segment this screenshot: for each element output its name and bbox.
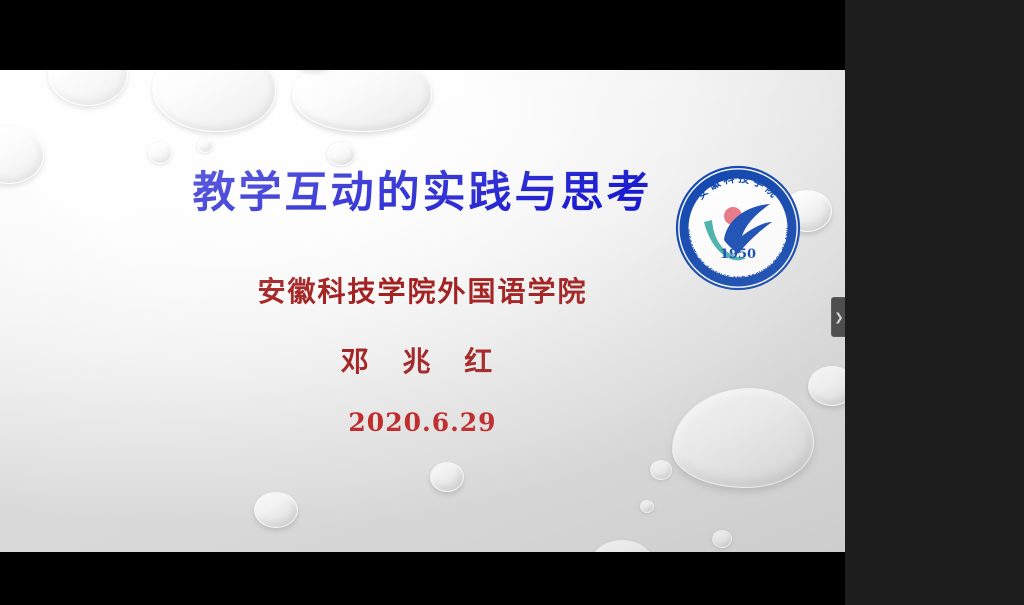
- bubble-decoration: [254, 492, 298, 528]
- bubble-decoration: [197, 138, 213, 153]
- slide-date: 2020.6.29: [0, 408, 845, 437]
- shared-screen-stage: 教学互动的实践与思考 安徽科技学院外国语学院 邓 兆 红 2020.6.29: [0, 0, 845, 605]
- participant-rail: 正在讲话: 邓兆红;: [845, 0, 1024, 605]
- presentation-slide: 教学互动的实践与思考 安徽科技学院外国语学院 邓 兆 红 2020.6.29: [0, 70, 845, 552]
- bubble-decoration: [430, 462, 464, 492]
- slide-author: 邓 兆 红: [0, 340, 845, 380]
- meeting-screen-share-window: 教学互动的实践与思考 安徽科技学院外国语学院 邓 兆 红 2020.6.29: [0, 0, 1024, 605]
- chevron-right-icon: ❯: [834, 311, 843, 324]
- bubble-decoration: [292, 70, 432, 132]
- bubble-decoration: [640, 500, 654, 513]
- bubble-decoration: [712, 530, 732, 548]
- bubble-decoration: [48, 70, 128, 106]
- bubble-decoration: [152, 70, 276, 132]
- bubble-decoration: [590, 540, 654, 552]
- bubble-decoration: [672, 388, 814, 488]
- university-logo-icon: 1950 安徽科技学院 UNIVERSITY OF SCIENCE AND TE…: [672, 162, 804, 294]
- panel-collapse-handle[interactable]: ❯: [831, 297, 845, 337]
- bubble-decoration: [650, 460, 672, 480]
- svg-text:1950: 1950: [720, 247, 756, 262]
